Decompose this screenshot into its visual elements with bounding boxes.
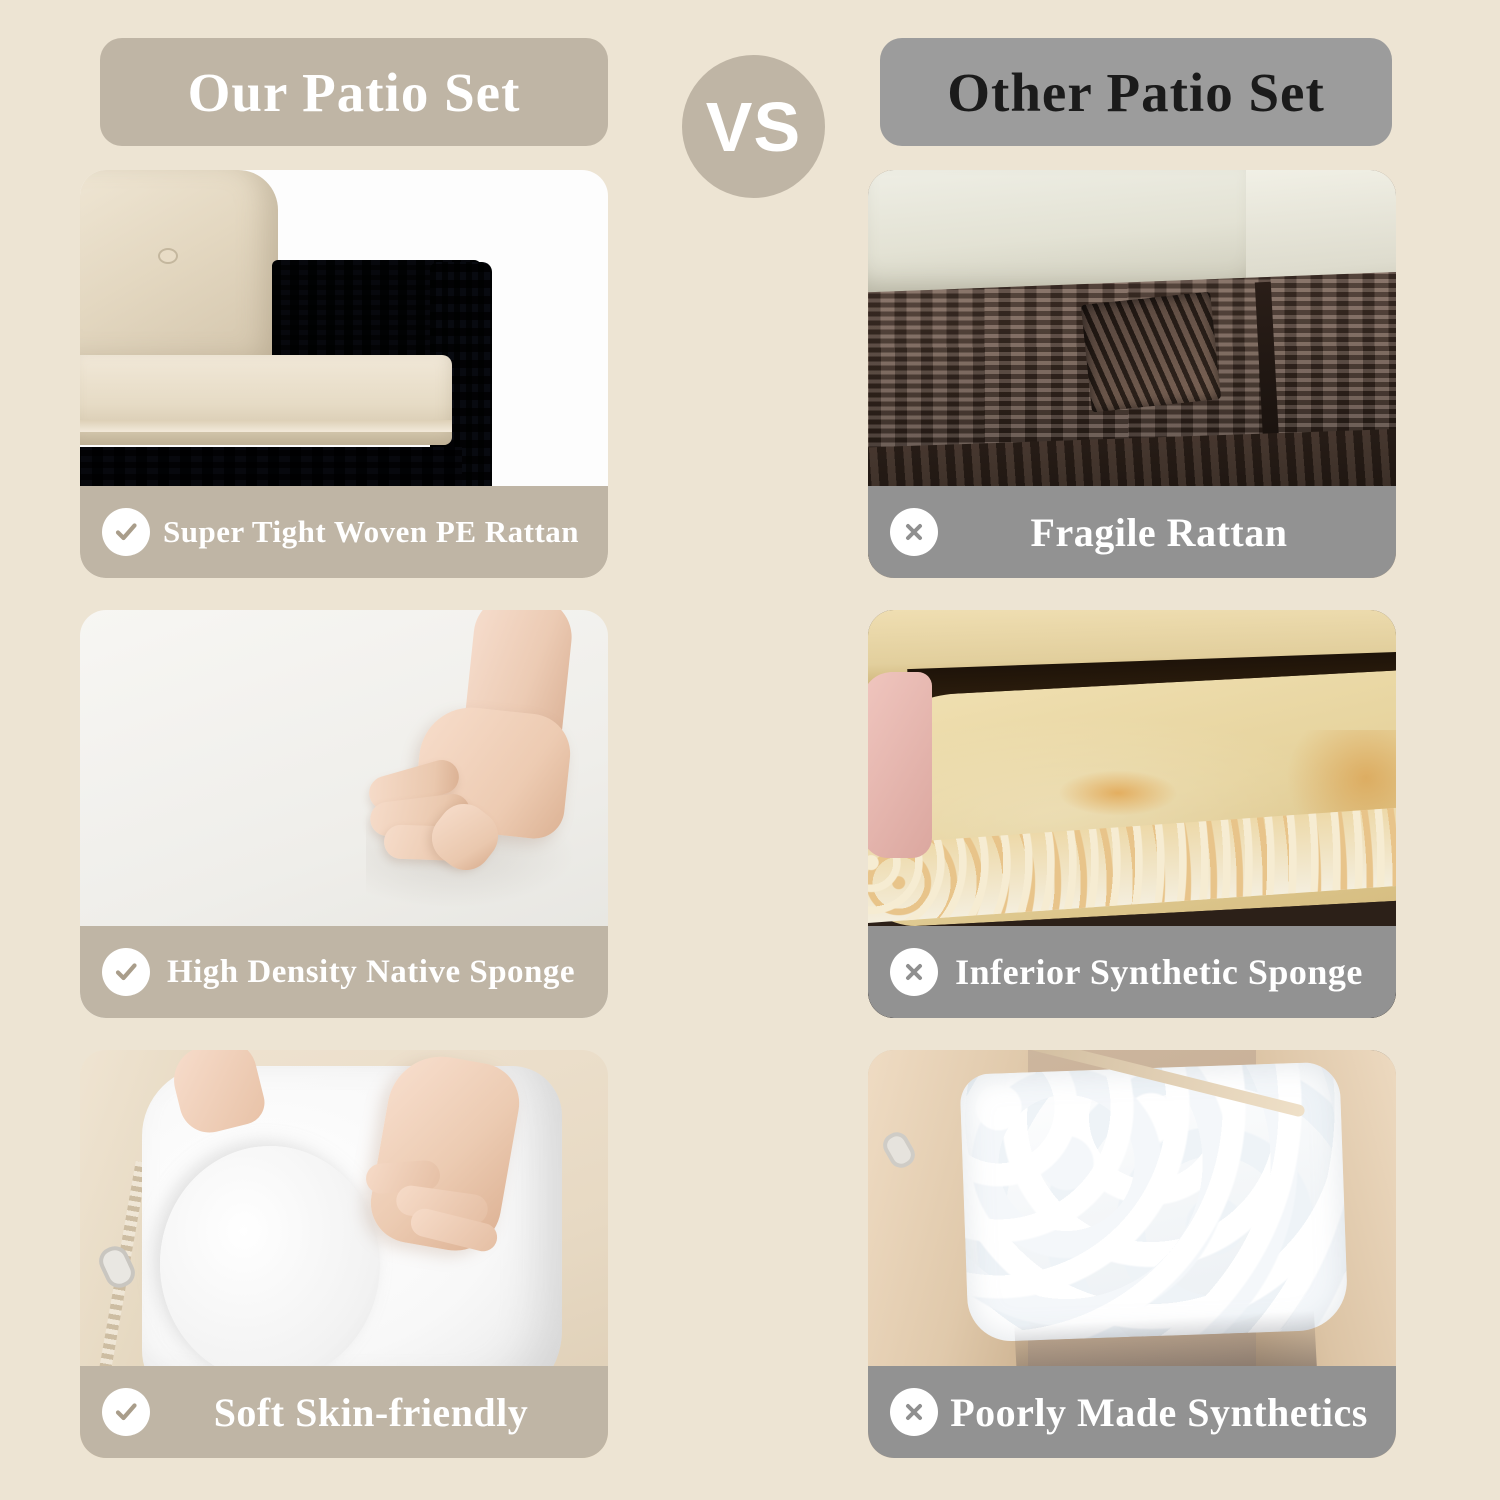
comparison-row: Super Tight Woven PE Rattan [0, 170, 1500, 600]
caption-text: Fragile Rattan [950, 509, 1374, 556]
comparison-header: Our Patio Set VS Other Patio Set [0, 38, 1500, 146]
x-circle-icon [890, 948, 938, 996]
header-ours-label: Our Patio Set [100, 38, 608, 146]
x-circle-icon [890, 1388, 938, 1436]
caption-bar: Soft Skin-friendly [80, 1366, 608, 1458]
check-circle-icon [102, 508, 150, 556]
check-circle-icon [102, 948, 150, 996]
caption-bar: Inferior Synthetic Sponge [868, 926, 1396, 1018]
caption-text: Soft Skin-friendly [162, 1389, 586, 1436]
caption-bar: Super Tight Woven PE Rattan [80, 486, 608, 578]
check-circle-icon [102, 1388, 150, 1436]
other-card-rattan: Fragile Rattan [868, 170, 1396, 578]
ours-card-rattan: Super Tight Woven PE Rattan [80, 170, 608, 578]
ours-card-skin-friendly: Soft Skin-friendly [80, 1050, 608, 1458]
comparison-row: Soft Skin-friendly [0, 1050, 1500, 1480]
caption-text: Inferior Synthetic Sponge [950, 951, 1374, 993]
caption-bar: Fragile Rattan [868, 486, 1396, 578]
caption-text: Super Tight Woven PE Rattan [162, 514, 586, 550]
other-card-synthetics: Poorly Made Synthetics [868, 1050, 1396, 1458]
comparison-infographic: Our Patio Set VS Other Patio Set [0, 0, 1500, 1500]
comparison-row: High Density Native Sponge [0, 610, 1500, 1040]
caption-bar: High Density Native Sponge [80, 926, 608, 1018]
comparison-grid: Super Tight Woven PE Rattan [0, 170, 1500, 1460]
other-card-sponge: Inferior Synthetic Sponge [868, 610, 1396, 1018]
caption-text: High Density Native Sponge [162, 954, 586, 991]
caption-text: Poorly Made Synthetics [950, 1389, 1374, 1436]
x-circle-icon [890, 508, 938, 556]
header-other-label: Other Patio Set [880, 38, 1392, 146]
ours-card-sponge: High Density Native Sponge [80, 610, 608, 1018]
caption-bar: Poorly Made Synthetics [868, 1366, 1396, 1458]
